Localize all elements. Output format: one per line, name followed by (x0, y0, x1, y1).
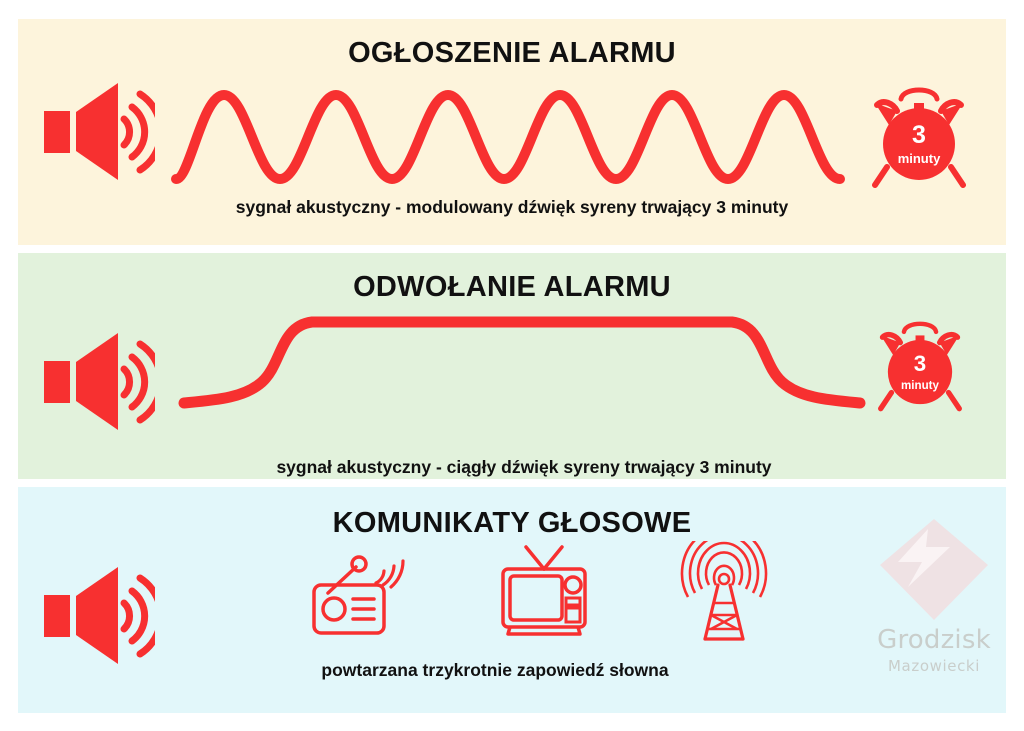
speaker-icon (40, 563, 155, 673)
infographic-root: OGŁOSZENIE ALARMU (0, 0, 1024, 731)
panel-title: ODWOŁANIE ALARMU (18, 271, 1006, 304)
panel-title: KOMUNIKATY GŁOSOWE (18, 507, 1006, 540)
watermark-line-1: Grodzisk (864, 625, 1004, 655)
broadcast-tower-icon (674, 541, 774, 650)
speaker-icon (40, 329, 155, 439)
panel-title: OGŁOSZENIE ALARMU (18, 37, 1006, 70)
clock-unit: minuty (901, 379, 940, 392)
continuous-plateau-wave (176, 308, 876, 423)
panel-caption: sygnał akustyczny - modulowany dźwięk sy… (18, 197, 1006, 218)
speaker-icon (40, 79, 155, 189)
clock-value: 3 (914, 351, 926, 376)
panel-voice-announcements: KOMUNIKATY GŁOSOWE (18, 487, 1006, 713)
panel-alarm-announcement: OGŁOSZENIE ALARMU (18, 19, 1006, 245)
panel-caption: powtarzana trzykrotnie zapowiedź słowna (0, 660, 1006, 681)
panel-caption: sygnał akustyczny - ciągły dźwięk syreny… (42, 457, 1006, 478)
modulated-sine-wave (168, 77, 878, 192)
grodzisk-diamond-logo (864, 517, 1004, 622)
alarm-clock-icon: 3 minuty (863, 81, 975, 194)
television-icon (494, 541, 594, 646)
alarm-clock-icon: 3 minuty (870, 315, 970, 418)
clock-value: 3 (912, 121, 926, 149)
panel-alarm-cancellation: ODWOŁANIE ALARMU (18, 253, 1006, 479)
radio-icon (306, 541, 412, 646)
clock-unit: minuty (898, 151, 941, 166)
media-icon-row (286, 541, 806, 651)
